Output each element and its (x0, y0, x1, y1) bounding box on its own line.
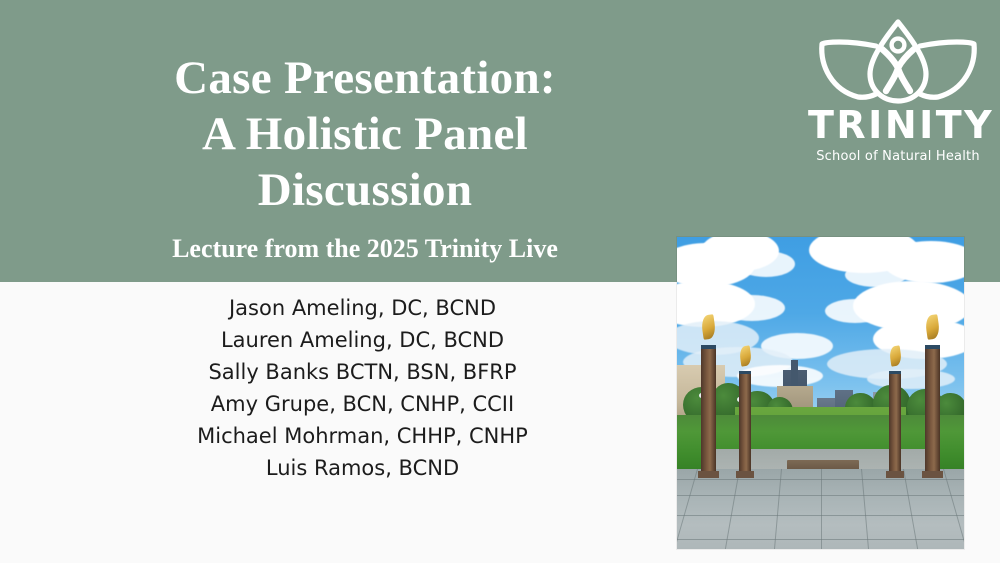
pavement-seam (774, 469, 782, 549)
pillar-base (736, 471, 754, 478)
plaza-pavement (677, 469, 964, 549)
presenter-name: Michael Mohrman, CHHP, CNHP (40, 420, 685, 452)
logo-wordmark: TRINITY (808, 106, 988, 144)
title-line-2: A Holistic Panel (0, 106, 730, 162)
title-block: Case Presentation: A Holistic Panel Disc… (0, 50, 730, 266)
pillar-base (698, 471, 719, 478)
veterans-memorial-plaza-photo (677, 237, 964, 549)
pillar-base (922, 471, 943, 478)
memorial-pillar (925, 333, 940, 477)
pavement-seam (861, 469, 869, 549)
cloud (719, 295, 785, 321)
cloud (737, 251, 795, 277)
presenter-name: Jason Ameling, DC, BCND (40, 292, 685, 324)
cloud (825, 299, 885, 323)
title-line-3: Discussion (0, 162, 730, 218)
pillar-shaft (739, 374, 751, 471)
subtitle: Lecture from the 2025 Trinity Live (0, 232, 730, 266)
memorial-pillar (739, 361, 751, 477)
pavement-seam (943, 469, 964, 549)
presenter-list: Jason Ameling, DC, BCND Lauren Ameling, … (40, 292, 685, 484)
presenter-name: Amy Grupe, BCN, CNHP, CCII (40, 388, 685, 420)
pillar-shaft (701, 349, 716, 471)
memorial-pillar (701, 333, 716, 477)
pillar-base (886, 471, 904, 478)
trinity-logo: TRINITY School of Natural Health (808, 18, 988, 166)
memorial-pillar (889, 361, 901, 477)
pavement-seam (821, 469, 822, 549)
presenter-name: Lauren Ameling, DC, BCND (40, 324, 685, 356)
pavement-seam (903, 469, 918, 549)
pavement-seam (725, 469, 740, 549)
presenter-name: Sally Banks BCTN, BSN, BFRP (40, 356, 685, 388)
title-line-1: Case Presentation: (0, 50, 730, 106)
presentation-slide: Case Presentation: A Holistic Panel Disc… (0, 0, 1000, 563)
pillar-shaft (925, 349, 940, 471)
presenter-name: Luis Ramos, BCND (40, 452, 685, 484)
logo-tagline: School of Natural Health (808, 149, 988, 165)
pavement-seam (677, 469, 698, 549)
pillar-shaft (889, 374, 901, 471)
lotus-figure-icon (816, 18, 980, 104)
